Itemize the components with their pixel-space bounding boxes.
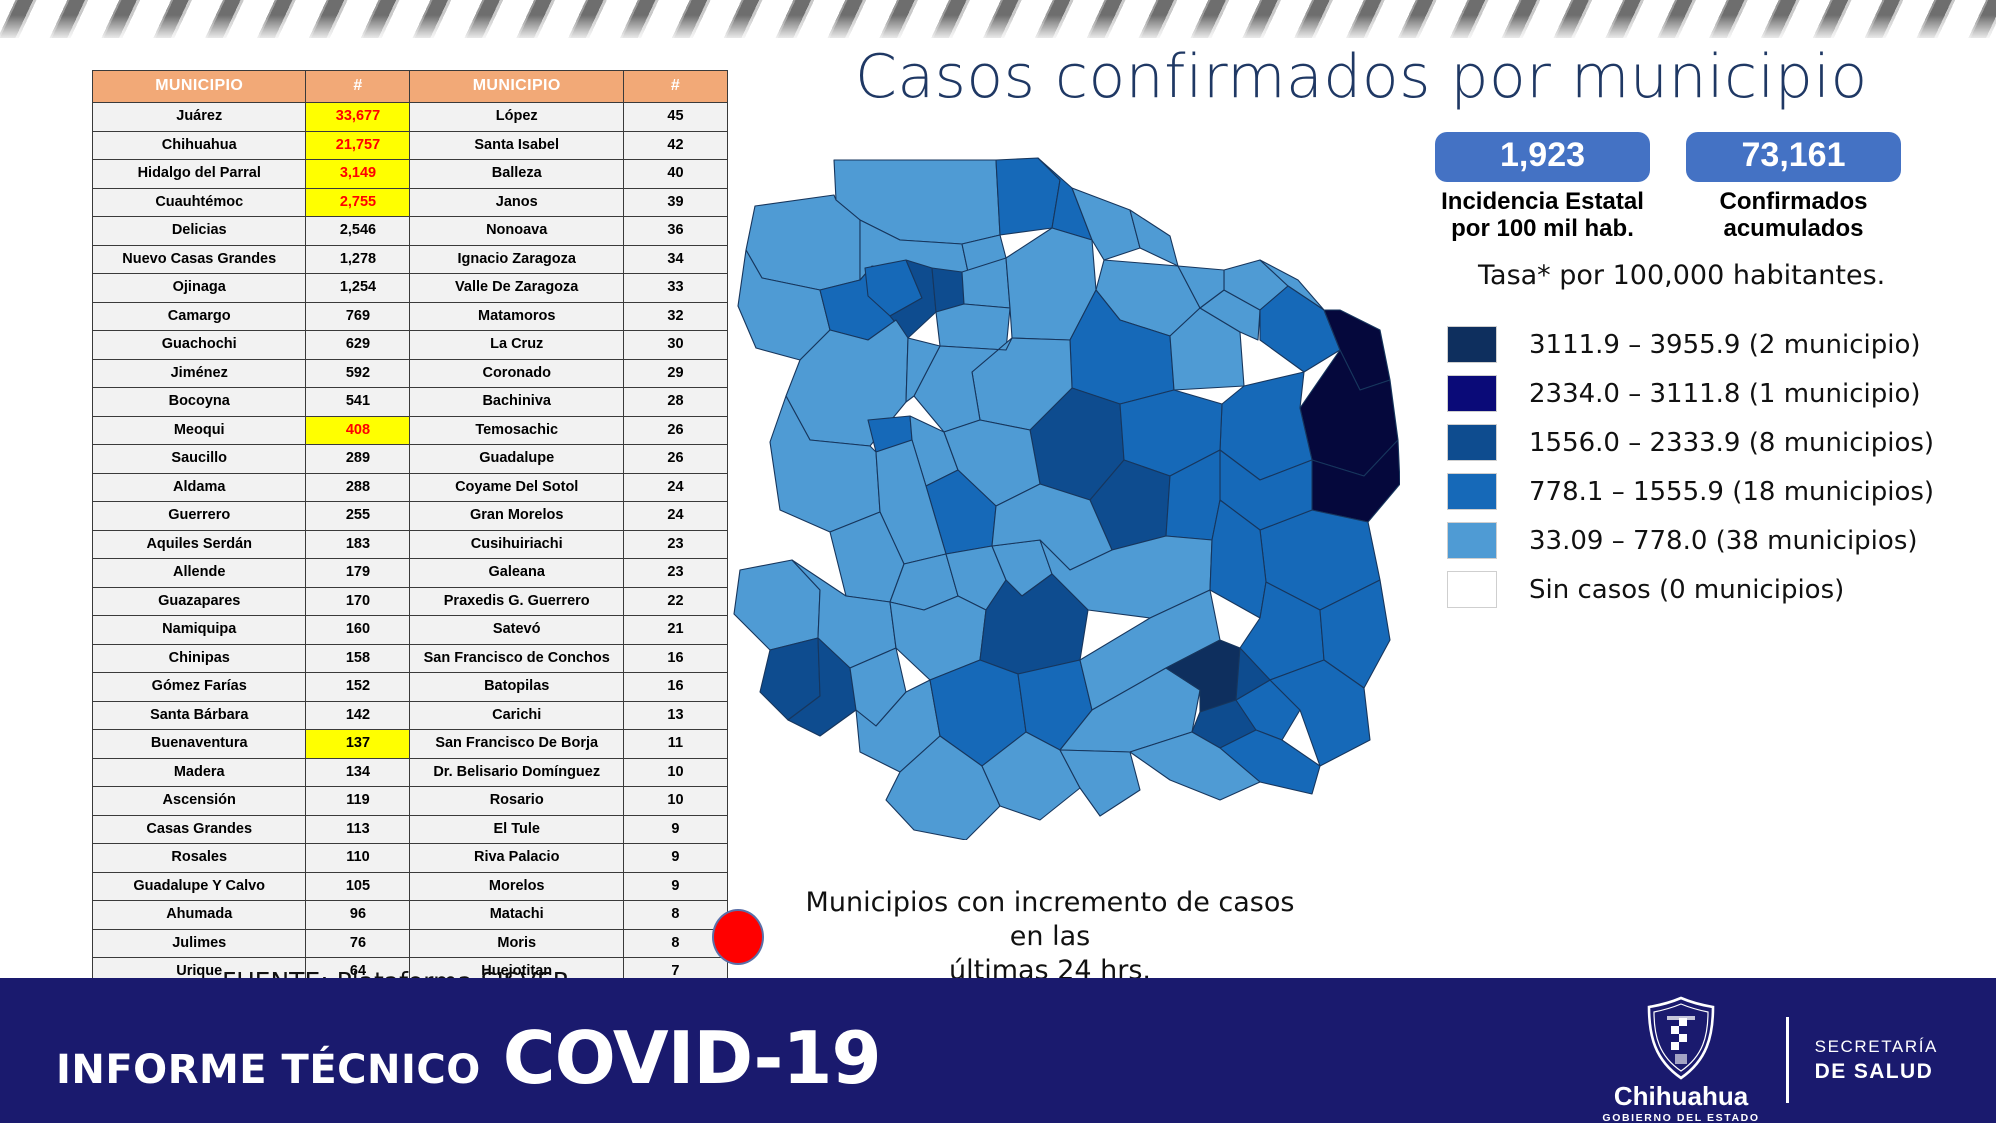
cell-municipio: La Cruz xyxy=(410,331,623,360)
cell-count: 76 xyxy=(306,929,410,958)
footer-divider xyxy=(1786,1017,1789,1103)
table-row: Gómez Farías152Batopilas16 xyxy=(93,673,728,702)
cell-count: 96 xyxy=(306,901,410,930)
cell-municipio: San Francisco de Conchos xyxy=(410,644,623,673)
table-row: Camargo769Matamoros32 xyxy=(93,302,728,331)
legend-swatch xyxy=(1447,424,1497,461)
cell-municipio: Dr. Belisario Domínguez xyxy=(410,758,623,787)
cell-municipio: Ojinaga xyxy=(93,274,306,303)
cell-municipio: Satevó xyxy=(410,616,623,645)
cell-municipio: Praxedis G. Guerrero xyxy=(410,587,623,616)
table-row: Chinipas158San Francisco de Conchos16 xyxy=(93,644,728,673)
legend-row: 1556.0 – 2333.9 (8 municipios) xyxy=(1447,418,1934,467)
legend-row: 778.1 – 1555.9 (18 municipios) xyxy=(1447,467,1934,516)
table-row: Ojinaga1,254Valle De Zaragoza33 xyxy=(93,274,728,303)
cell-municipio: Valle De Zaragoza xyxy=(410,274,623,303)
cell-municipio: Aquiles Serdán xyxy=(93,530,306,559)
table-row: Ahumada96Matachi8 xyxy=(93,901,728,930)
table-row: Ascensión119Rosario10 xyxy=(93,787,728,816)
cell-count: 2,546 xyxy=(306,217,410,246)
chihuahua-brand: Chihuahua GOBIERNO DEL ESTADO xyxy=(1602,996,1759,1124)
legend-swatch xyxy=(1447,326,1497,363)
cell-municipio: Saucillo xyxy=(93,445,306,474)
table-row: Aldama288Coyame Del Sotol24 xyxy=(93,473,728,502)
red-dot-icon xyxy=(712,909,764,965)
table-row: Guazapares170Praxedis G. Guerrero22 xyxy=(93,587,728,616)
legend-row: 2334.0 – 3111.8 (1 municipio) xyxy=(1447,369,1934,418)
cell-municipio: Morelos xyxy=(410,872,623,901)
chihuahua-map xyxy=(700,140,1400,840)
stat-confirmados-caption-line2: acumulados xyxy=(1686,216,1901,243)
cell-municipio: Camargo xyxy=(93,302,306,331)
municipios-table: MUNICIPIO # MUNICIPIO # Juárez33,677Lópe… xyxy=(92,70,728,1072)
cell-count: 255 xyxy=(306,502,410,531)
table-row: Bocoyna541Bachiniva28 xyxy=(93,388,728,417)
cell-municipio: Janos xyxy=(410,188,623,217)
table-row: Santa Bárbara142Carichi13 xyxy=(93,701,728,730)
cell-municipio: Guadalupe Y Calvo xyxy=(93,872,306,901)
cell-count: 179 xyxy=(306,559,410,588)
cell-count: 45 xyxy=(623,103,727,132)
secretaria-line2: DE SALUD xyxy=(1815,1060,1938,1084)
cell-municipio: Gómez Farías xyxy=(93,673,306,702)
stat-incidencia-caption: Incidencia Estatal por 100 mil hab. xyxy=(1435,189,1650,243)
cell-municipio: Galeana xyxy=(410,559,623,588)
table-row: Jiménez592Coronado29 xyxy=(93,359,728,388)
legend-swatch xyxy=(1447,375,1497,412)
table-row: Buenaventura137San Francisco De Borja11 xyxy=(93,730,728,759)
cell-municipio: Chinipas xyxy=(93,644,306,673)
top-stripe-banner xyxy=(0,0,1996,38)
header-municipio-1: MUNICIPIO xyxy=(93,71,306,103)
table-row: Guerrero255Gran Morelos24 xyxy=(93,502,728,531)
cell-municipio: Ignacio Zaragoza xyxy=(410,245,623,274)
cell-municipio: Aldama xyxy=(93,473,306,502)
stat-incidencia-caption-line2: por 100 mil hab. xyxy=(1435,216,1650,243)
cell-municipio: Carichi xyxy=(410,701,623,730)
cell-count: 160 xyxy=(306,616,410,645)
map-region xyxy=(1130,210,1178,266)
cell-count: 183 xyxy=(306,530,410,559)
table-row: Hidalgo del Parral3,149Balleza40 xyxy=(93,160,728,189)
table-header-row: MUNICIPIO # MUNICIPIO # xyxy=(93,71,728,103)
footer-logos: Chihuahua GOBIERNO DEL ESTADO SECRETARÍA… xyxy=(1602,996,1938,1124)
legend-swatch xyxy=(1447,522,1497,559)
secretaria-block: SECRETARÍA DE SALUD xyxy=(1815,1037,1938,1084)
cell-municipio: Hidalgo del Parral xyxy=(93,160,306,189)
stats-row: 1,923 Incidencia Estatal por 100 mil hab… xyxy=(1435,132,1901,243)
table-row: Rosales110Riva Palacio9 xyxy=(93,844,728,873)
cell-municipio: Rosario xyxy=(410,787,623,816)
stat-confirmados: 73,161 Confirmados acumulados xyxy=(1686,132,1901,243)
cell-municipio: Rosales xyxy=(93,844,306,873)
cell-municipio: López xyxy=(410,103,623,132)
table-row: Guadalupe Y Calvo105Morelos9 xyxy=(93,872,728,901)
map-region xyxy=(746,195,860,290)
tasa-note: Tasa* por 100,000 habitantes. xyxy=(1478,260,1885,291)
cell-count: 152 xyxy=(306,673,410,702)
brand-subtitle: GOBIERNO DEL ESTADO xyxy=(1602,1112,1759,1124)
cell-municipio: Matamoros xyxy=(410,302,623,331)
legend-swatch xyxy=(1447,571,1497,608)
legend-label: 2334.0 – 3111.8 (1 municipio) xyxy=(1529,379,1921,409)
cell-count: 1,278 xyxy=(306,245,410,274)
cell-municipio: Nonoava xyxy=(410,217,623,246)
cell-municipio: Gran Morelos xyxy=(410,502,623,531)
stat-incidencia-value: 1,923 xyxy=(1435,132,1650,182)
cell-count: 2,755 xyxy=(306,188,410,217)
legend-row: 33.09 – 778.0 (38 municipios) xyxy=(1447,516,1934,565)
legend-label: 778.1 – 1555.9 (18 municipios) xyxy=(1529,477,1934,507)
header-count-2: # xyxy=(623,71,727,103)
stat-confirmados-value: 73,161 xyxy=(1686,132,1901,182)
cell-municipio: Chihuahua xyxy=(93,131,306,160)
cell-count: 134 xyxy=(306,758,410,787)
cell-count: 769 xyxy=(306,302,410,331)
header-municipio-2: MUNICIPIO xyxy=(410,71,623,103)
table-row: Saucillo289Guadalupe26 xyxy=(93,445,728,474)
table-row: Aquiles Serdán183Cusihuiriachi23 xyxy=(93,530,728,559)
cell-municipio: Madera xyxy=(93,758,306,787)
municipios-table-container: MUNICIPIO # MUNICIPIO # Juárez33,677Lópe… xyxy=(92,70,728,1072)
stat-confirmados-caption-line1: Confirmados xyxy=(1686,189,1901,216)
cell-municipio: Jiménez xyxy=(93,359,306,388)
header-count-1: # xyxy=(306,71,410,103)
footer-covid-label: COVID-19 xyxy=(503,1016,881,1100)
table-row: Guachochi629La Cruz30 xyxy=(93,331,728,360)
cell-count: 408 xyxy=(306,416,410,445)
table-row: Madera134Dr. Belisario Domínguez10 xyxy=(93,758,728,787)
cell-municipio: Santa Isabel xyxy=(410,131,623,160)
cell-municipio: El Tule xyxy=(410,815,623,844)
cell-count: 158 xyxy=(306,644,410,673)
cell-municipio: Batopilas xyxy=(410,673,623,702)
footer-informe-label: INFORME TÉCNICO xyxy=(56,1047,481,1093)
stat-incidencia: 1,923 Incidencia Estatal por 100 mil hab… xyxy=(1435,132,1650,243)
cell-count: 105 xyxy=(306,872,410,901)
page-title: Casos confirmados por municipio xyxy=(855,42,1868,112)
cell-municipio: Coyame Del Sotol xyxy=(410,473,623,502)
cell-count: 33,677 xyxy=(306,103,410,132)
legend-row: 3111.9 – 3955.9 (2 municipio) xyxy=(1447,320,1934,369)
table-row: Delicias2,546Nonoava36 xyxy=(93,217,728,246)
footer-bar: INFORME TÉCNICO COVID-19 Chihuahua GOBIE… xyxy=(0,978,1996,1123)
cell-count: 9 xyxy=(623,844,727,873)
cell-municipio: Julimes xyxy=(93,929,306,958)
cell-municipio: Namiquipa xyxy=(93,616,306,645)
cell-municipio: Cuauhtémoc xyxy=(93,188,306,217)
stat-incidencia-caption-line1: Incidencia Estatal xyxy=(1435,189,1650,216)
table-row: Julimes76Moris8 xyxy=(93,929,728,958)
cell-municipio: Allende xyxy=(93,559,306,588)
cell-municipio: Delicias xyxy=(93,217,306,246)
cell-count: 289 xyxy=(306,445,410,474)
cell-count: 119 xyxy=(306,787,410,816)
secretaria-line1: SECRETARÍA xyxy=(1815,1037,1938,1057)
increment-note-text: Municipios con incremento de casos en la… xyxy=(790,886,1310,987)
cell-municipio: Guadalupe xyxy=(410,445,623,474)
map-region xyxy=(936,304,1010,350)
table-row: Casas Grandes113El Tule9 xyxy=(93,815,728,844)
cell-count: 21,757 xyxy=(306,131,410,160)
cell-municipio: Matachi xyxy=(410,901,623,930)
cell-municipio: Temosachic xyxy=(410,416,623,445)
cell-municipio: Riva Palacio xyxy=(410,844,623,873)
table-row: Meoqui408Temosachic26 xyxy=(93,416,728,445)
footer-title: INFORME TÉCNICO COVID-19 xyxy=(56,1016,881,1100)
cell-count: 113 xyxy=(306,815,410,844)
map-legend: 3111.9 – 3955.9 (2 municipio)2334.0 – 31… xyxy=(1447,320,1934,614)
cell-municipio: Nuevo Casas Grandes xyxy=(93,245,306,274)
cell-municipio: Casas Grandes xyxy=(93,815,306,844)
cell-municipio: Balleza xyxy=(410,160,623,189)
cell-count: 1,254 xyxy=(306,274,410,303)
cell-count: 288 xyxy=(306,473,410,502)
cell-count: 3,149 xyxy=(306,160,410,189)
cell-count: 541 xyxy=(306,388,410,417)
table-row: Cuauhtémoc2,755Janos39 xyxy=(93,188,728,217)
cell-municipio: Ahumada xyxy=(93,901,306,930)
map-svg xyxy=(700,140,1400,840)
stat-confirmados-caption: Confirmados acumulados xyxy=(1686,189,1901,243)
cell-municipio: Ascensión xyxy=(93,787,306,816)
table-body: Juárez33,677López45Chihuahua21,757Santa … xyxy=(93,103,728,1072)
cell-count: 170 xyxy=(306,587,410,616)
legend-swatch xyxy=(1447,473,1497,510)
cell-municipio: Buenaventura xyxy=(93,730,306,759)
table-row: Juárez33,677López45 xyxy=(93,103,728,132)
cell-municipio: Coronado xyxy=(410,359,623,388)
cell-municipio: Bocoyna xyxy=(93,388,306,417)
legend-label: Sin casos (0 municipios) xyxy=(1529,575,1844,605)
legend-label: 1556.0 – 2333.9 (8 municipios) xyxy=(1529,428,1934,458)
increment-note: Municipios con incremento de casos en la… xyxy=(712,886,1310,987)
table-row: Allende179Galeana23 xyxy=(93,559,728,588)
cell-municipio: Santa Bárbara xyxy=(93,701,306,730)
cell-municipio: Meoqui xyxy=(93,416,306,445)
legend-row: Sin casos (0 municipios) xyxy=(1447,565,1934,614)
cell-municipio: Juárez xyxy=(93,103,306,132)
cell-municipio: Guazapares xyxy=(93,587,306,616)
cell-municipio: San Francisco De Borja xyxy=(410,730,623,759)
legend-label: 3111.9 – 3955.9 (2 municipio) xyxy=(1529,330,1921,360)
legend-label: 33.09 – 778.0 (38 municipios) xyxy=(1529,526,1918,556)
cell-municipio: Moris xyxy=(410,929,623,958)
cell-count: 142 xyxy=(306,701,410,730)
cell-count: 592 xyxy=(306,359,410,388)
cell-count: 110 xyxy=(306,844,410,873)
cell-municipio: Guachochi xyxy=(93,331,306,360)
cell-count: 629 xyxy=(306,331,410,360)
shield-icon xyxy=(1645,996,1717,1080)
brand-name: Chihuahua xyxy=(1614,1083,1748,1109)
table-row: Nuevo Casas Grandes1,278Ignacio Zaragoza… xyxy=(93,245,728,274)
table-row: Namiquipa160Satevó21 xyxy=(93,616,728,645)
cell-count: 137 xyxy=(306,730,410,759)
cell-municipio: Bachiniva xyxy=(410,388,623,417)
table-row: Chihuahua21,757Santa Isabel42 xyxy=(93,131,728,160)
cell-municipio: Guerrero xyxy=(93,502,306,531)
cell-municipio: Cusihuiriachi xyxy=(410,530,623,559)
increment-note-line1: Municipios con incremento de casos en la… xyxy=(790,886,1310,954)
